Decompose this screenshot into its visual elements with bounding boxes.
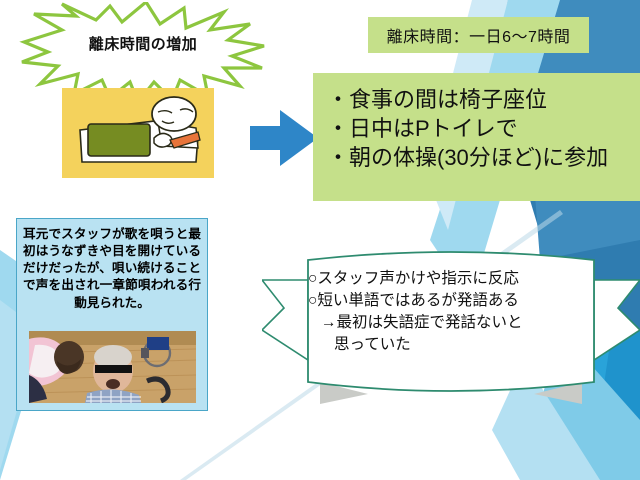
slide-canvas: 離床時間の増加 離床時間：一日6〜7時間 ・食事の間は椅 [0, 0, 640, 480]
ribbon-line-2: ○短い単語ではあるが発語ある [308, 290, 608, 312]
activity-line-2: ・日中はPトイレで [327, 114, 640, 143]
right-arrow-icon [248, 104, 320, 172]
daily-activities-box: ・食事の間は椅子座位 ・日中はPトイレで ・朝の体操(30分ほど)に参加 [313, 73, 640, 201]
rise-time-summary-text: 離床時間：一日6〜7時間 [387, 23, 571, 47]
ribbon-line-1: ○スタッフ声かけや指示に反応 [308, 268, 608, 290]
activity-line-3: ・朝の体操(30分ほど)に参加 [327, 143, 640, 172]
observation-ribbon-text: ○スタッフ声かけや指示に反応 ○短い単語ではあるが発語ある →最初は失語症で発話… [308, 268, 608, 356]
burst-label: 離床時間の増加 [18, 33, 268, 54]
elderly-person-in-bed-illustration [62, 88, 214, 178]
singing-observation-box: 耳元でスタッフが歌を唄うと最初はうなずきや目を開けているだけだったが、唄い続ける… [16, 218, 208, 411]
activity-line-1: ・食事の間は椅子座位 [327, 85, 640, 114]
singing-observation-text: 耳元でスタッフが歌を唄うと最初はうなずきや目を開けているだけだったが、唄い続ける… [23, 226, 201, 312]
rise-time-summary-box: 離床時間：一日6〜7時間 [368, 17, 589, 53]
ribbon-line-4: 思っていた [308, 334, 608, 356]
caregiver-and-elderly-person-photo [29, 331, 196, 403]
ribbon-line-3: →最初は失語症で発話ないと [308, 312, 608, 334]
